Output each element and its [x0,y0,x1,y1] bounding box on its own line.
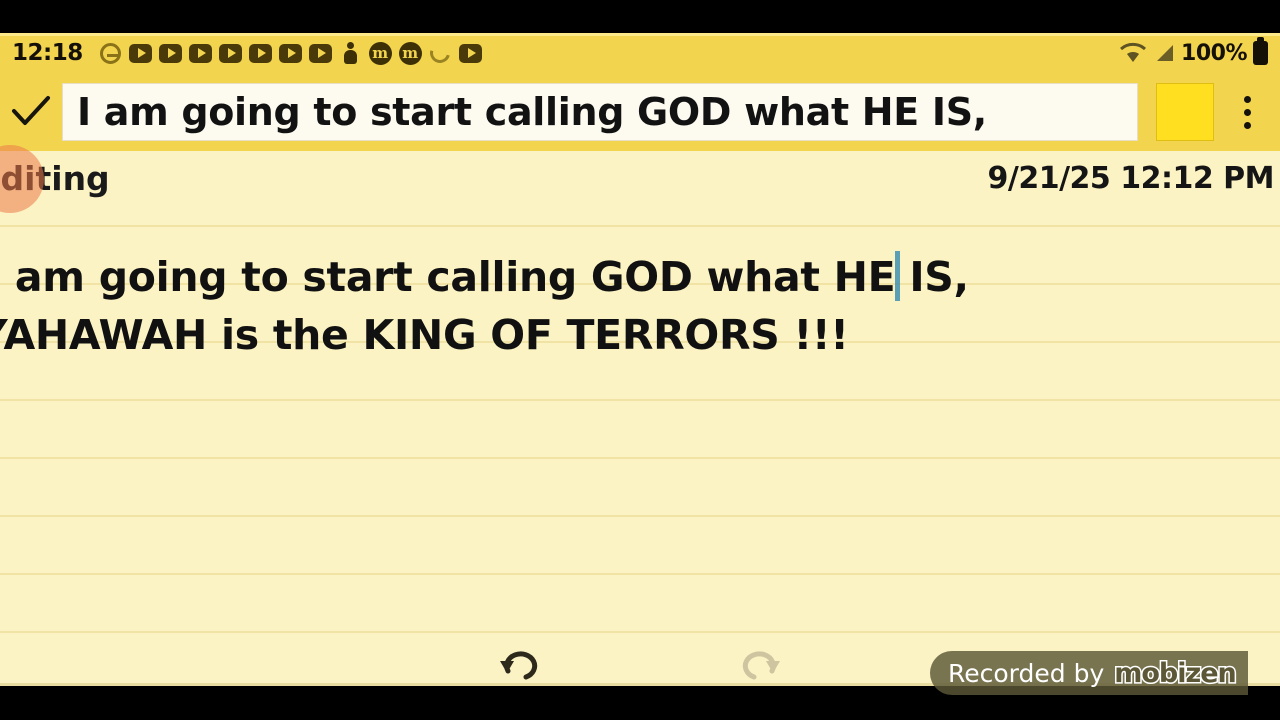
youtube-icon [309,42,332,65]
note-timestamp: 9/21/25 12:12 PM [987,161,1274,196]
notification-icon-tray[interactable]: m m [99,42,1119,65]
undo-icon[interactable] [490,646,550,686]
screen-root: 12:18 m m [0,0,1280,720]
watermark-prefix: Recorded by [948,659,1104,688]
checkmark-icon[interactable] [0,73,62,151]
youtube-icon [159,42,182,65]
redo-icon[interactable] [730,646,790,686]
note-body-line: I am going to start calling GOD what HE … [0,257,969,298]
circle-minus-icon [99,42,122,65]
battery-icon [1253,41,1268,65]
editing-status-label: Editing [0,159,110,198]
rule-line [0,631,1280,633]
note-body-line: YAHAWAH is the KING OF TERRORS !!! [0,315,849,356]
refresh-icon [429,42,452,65]
rule-line [0,515,1280,517]
note-meta-row: Editing 9/21/25 12:12 PM [0,151,1280,207]
screen-recorder-watermark: Recorded by mobizen [930,651,1248,695]
letterbox-top [0,0,1280,33]
rule-line [0,457,1280,459]
note-color-swatch-button[interactable] [1156,83,1214,141]
text-cursor [895,251,900,301]
youtube-icon [219,42,242,65]
rule-line [0,225,1280,227]
status-bar: 12:18 m m [0,33,1280,73]
youtube-icon [129,42,152,65]
youtube-icon [189,42,212,65]
cell-signal-icon [1153,43,1175,63]
m-badge-icon: m [399,42,422,65]
youtube-icon [279,42,302,65]
m-badge-icon: m [369,42,392,65]
note-toolbar: I am going to start calling GOD what HE … [0,73,1280,151]
rule-line [0,573,1280,575]
note-title-text: I am going to start calling GOD what HE … [77,93,987,131]
note-body-editor[interactable]: I am going to start calling GOD what HE … [0,207,1280,646]
person-icon [339,42,362,65]
youtube-icon [249,42,272,65]
kebab-menu-icon[interactable] [1214,73,1280,151]
wifi-icon [1119,42,1147,64]
note-title-input[interactable]: I am going to start calling GOD what HE … [62,83,1138,141]
notes-app: 12:18 m m [0,33,1280,686]
status-right-cluster: 100% [1119,41,1268,66]
rule-line [0,399,1280,401]
status-clock: 12:18 [12,40,83,66]
battery-percent-label: 100% [1181,41,1247,66]
youtube-icon [459,42,482,65]
watermark-brand: mobizen [1114,658,1236,689]
